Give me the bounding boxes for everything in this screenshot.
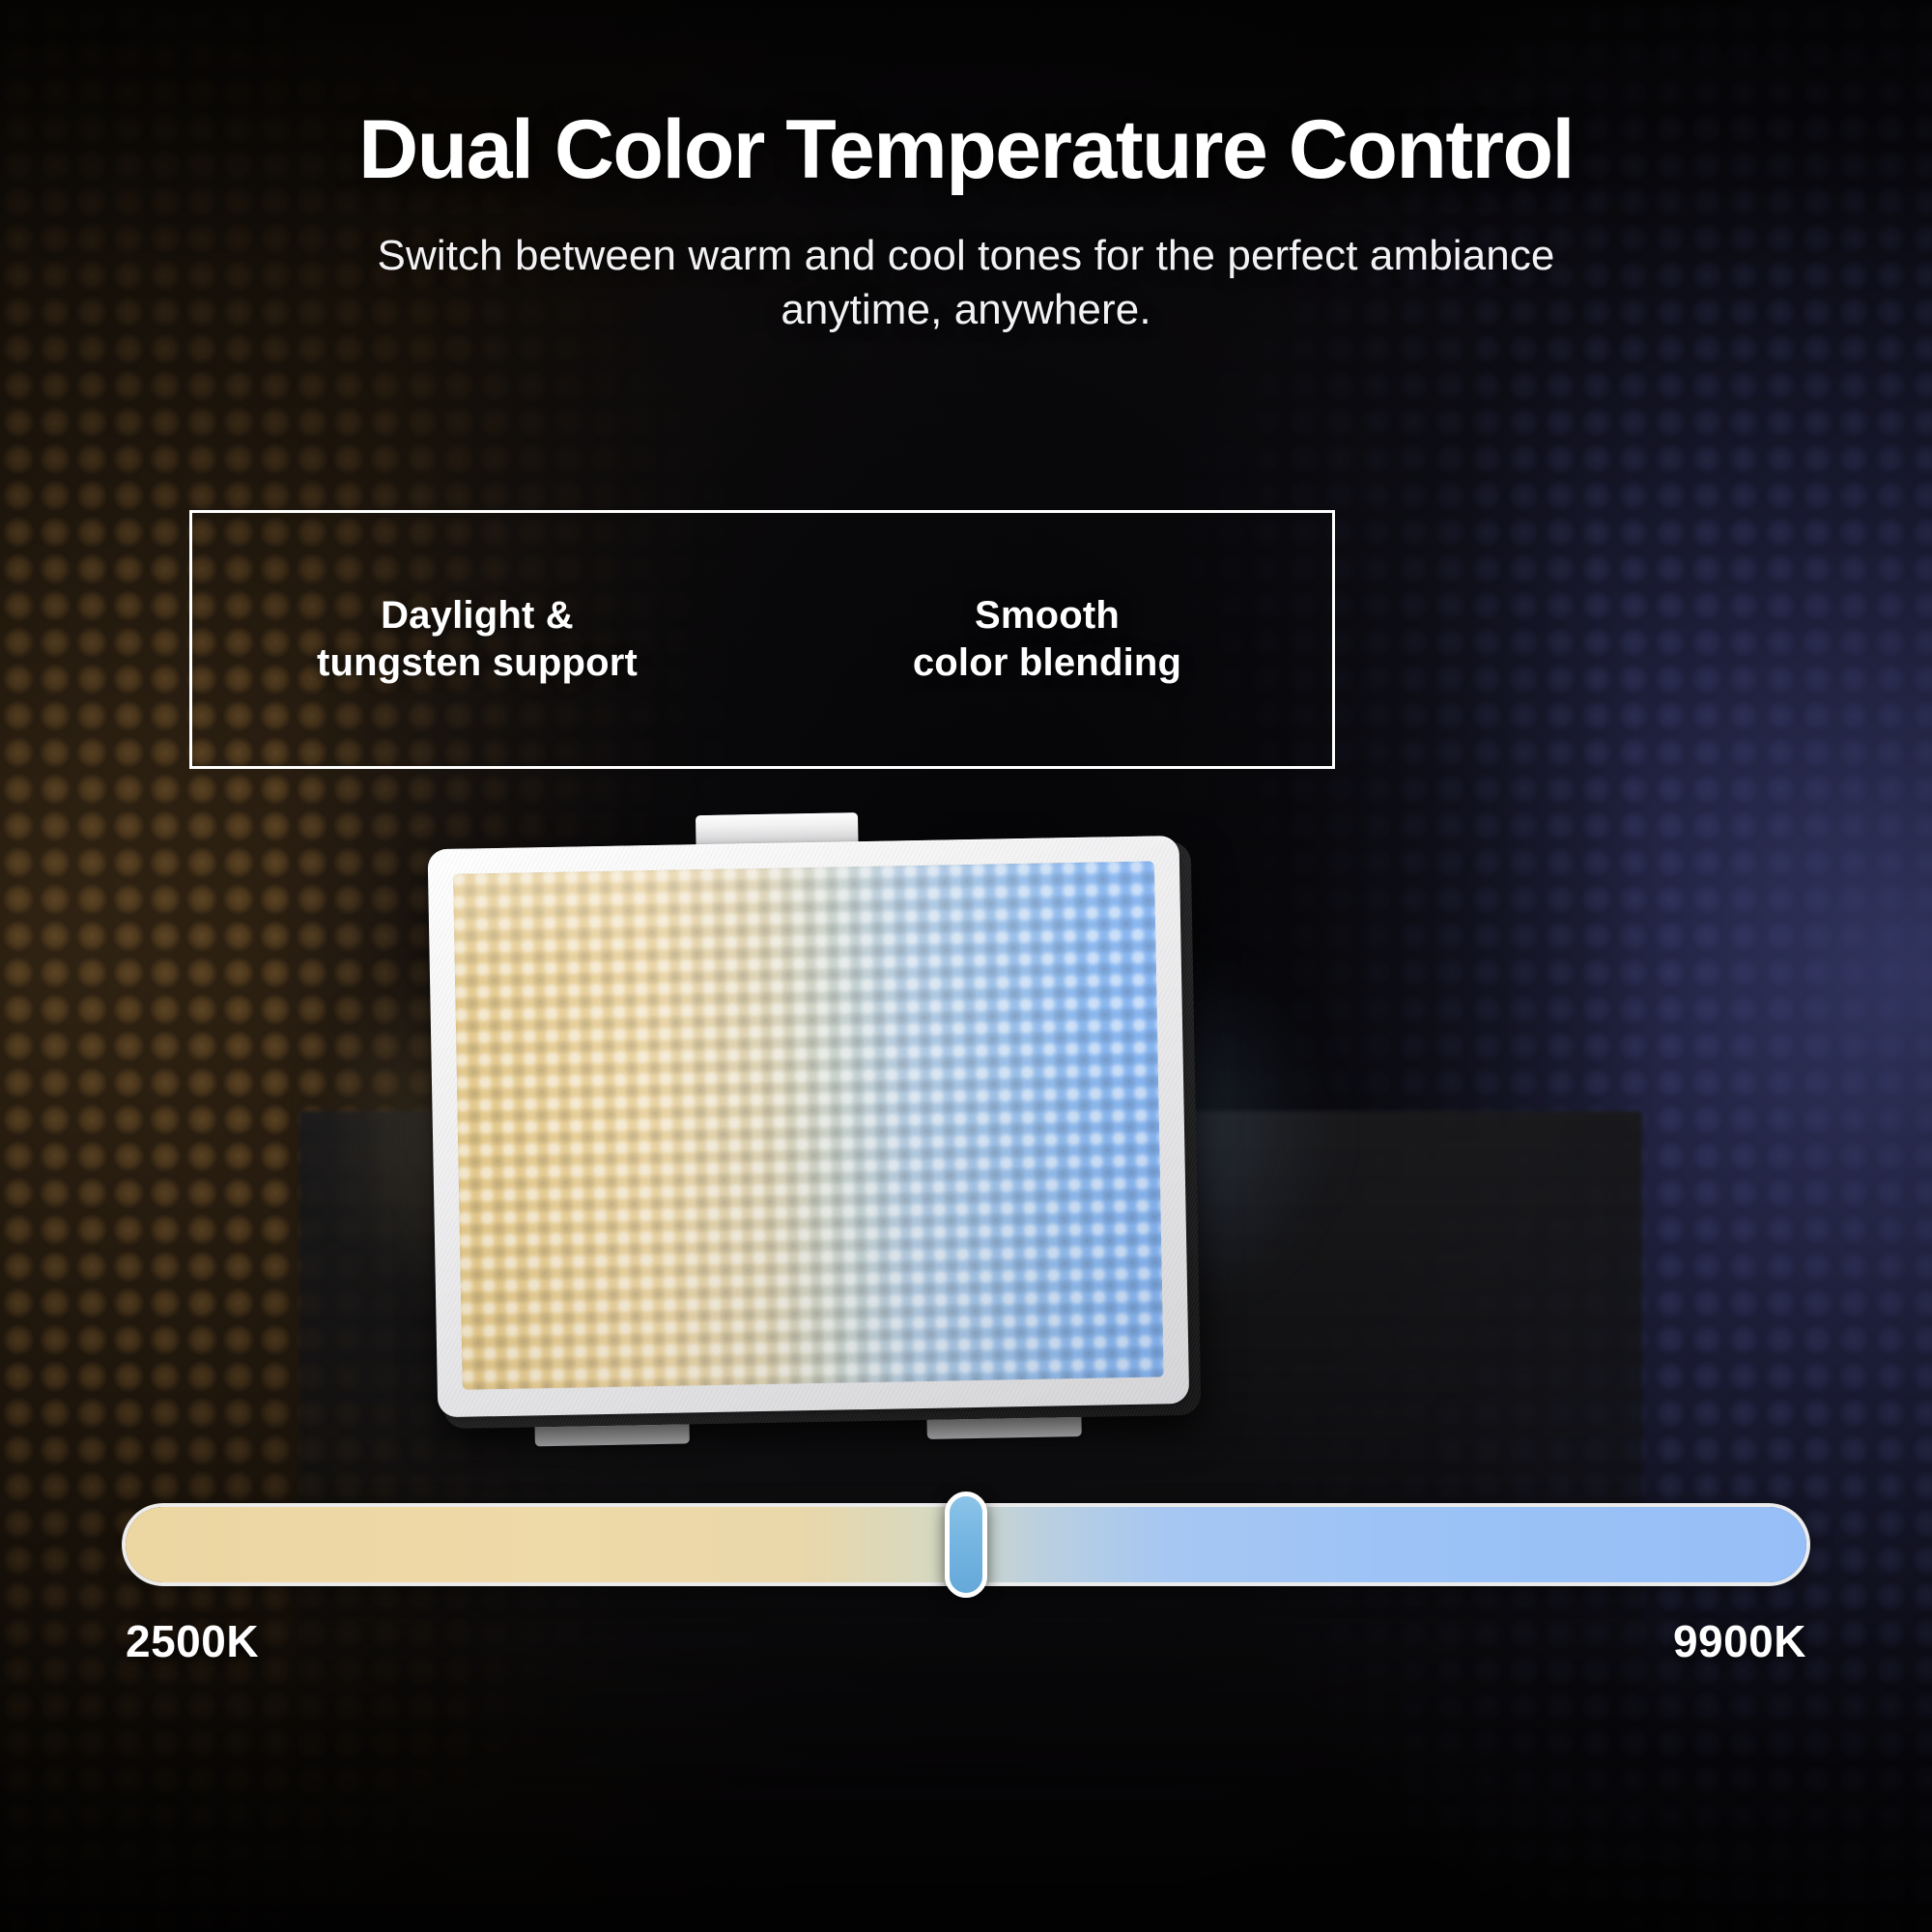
subtitle-line-2: anytime, anywhere. (0, 283, 1932, 337)
panel-led-screen (453, 862, 1164, 1390)
slider-min-label: 2500K (126, 1615, 259, 1667)
feature-item-color-blending: Smooth color blending (762, 592, 1332, 687)
feature-item-color-blending-line-2: color blending (762, 639, 1332, 687)
led-light-panel (428, 836, 1202, 1429)
slider-handle[interactable] (945, 1492, 987, 1598)
slider-track[interactable] (126, 1507, 1806, 1582)
header-block: Dual Color Temperature Control Switch be… (0, 106, 1932, 338)
slider-labels: 2500K 9900K (126, 1615, 1806, 1667)
panel-bezel (428, 836, 1190, 1417)
promo-graphic: Dual Color Temperature Control Switch be… (0, 0, 1932, 1932)
page-subtitle: Switch between warm and cool tones for t… (0, 229, 1932, 338)
page-title: Dual Color Temperature Control (0, 106, 1932, 194)
feature-highlight-box: Daylight & tungsten support Smooth color… (189, 510, 1335, 769)
feature-item-daylight-tungsten-line-1: Daylight & (192, 592, 762, 639)
led-diffuser-sheen (453, 862, 1164, 1390)
feature-item-daylight-tungsten: Daylight & tungsten support (192, 592, 762, 687)
feature-item-color-blending-line-1: Smooth (762, 592, 1332, 639)
feature-item-daylight-tungsten-line-2: tungsten support (192, 639, 762, 687)
subtitle-line-1: Switch between warm and cool tones for t… (0, 229, 1932, 283)
slider-max-label: 9900K (1673, 1615, 1806, 1667)
color-temperature-slider[interactable]: 2500K 9900K (0, 1507, 1932, 1667)
